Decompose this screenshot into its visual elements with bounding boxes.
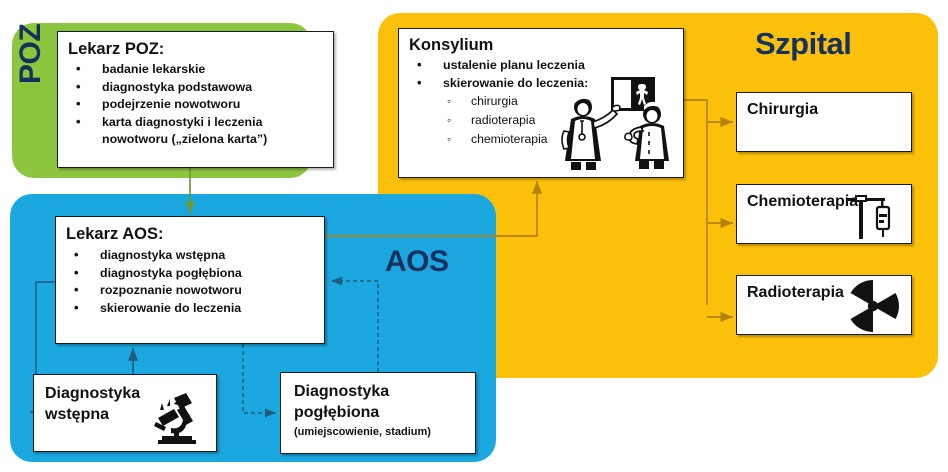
microscope-icon [144,392,210,448]
card-konsylium[interactable]: Konsylium ustalenie planu leczenia skier… [398,28,684,178]
iv-drip-icon [843,190,907,242]
card-lekarz-poz-title: Lekarz POZ: [68,39,325,59]
radiation-icon [843,280,903,332]
card-chirurgia[interactable]: Chirurgia [736,92,912,152]
list-item: karta diagnostyki i leczenia [68,114,325,132]
list-item: diagnostyka podstawowa [68,79,325,97]
card-konsylium-title: Konsylium [409,35,675,55]
card-lekarz-poz[interactable]: Lekarz POZ: badanie lekarskie diagnostyk… [57,31,334,168]
list-item: diagnostyka wstępna [66,247,316,265]
card-radioterapia[interactable]: Radioterapia [736,275,912,335]
list-item: badanie lekarskie [68,61,325,79]
list-item: diagnostyka pogłębiona [66,265,316,283]
card-lekarz-aos[interactable]: Lekarz AOS: diagnostyka wstępna diagnost… [55,216,325,344]
list-item-continuation: nowotworu („zielona karta”) [68,131,325,149]
doctors-xray-icon [557,76,675,172]
zone-label-poz: POZ [14,38,48,84]
zone-label-szpital: Szpital [755,26,851,62]
card-chirurgia-label: Chirurgia [747,99,911,120]
card-diagnostyka-wstepna[interactable]: Diagnostyka wstępna [33,374,217,452]
card-lekarz-aos-bullets: diagnostyka wstępna diagnostyka pogłębio… [66,247,316,317]
card-diagnostyka-poglebiona-note: (umiejscowienie, stadium) [294,425,475,439]
list-item: podejrzenie nowotworu [68,96,325,114]
list-item: rozpoznanie nowotworu [66,282,316,300]
card-lekarz-poz-bullets: badanie lekarskie diagnostyka podstawowa… [68,61,325,149]
card-diagnostyka-poglebiona-line2: pogłębiona [294,402,475,423]
card-diagnostyka-poglebiona[interactable]: Diagnostyka pogłębiona (umiejscowienie, … [280,372,476,454]
card-lekarz-aos-title: Lekarz AOS: [66,224,316,245]
card-diagnostyka-poglebiona-line1: Diagnostyka [294,381,475,402]
list-item: ustalenie planu leczenia [409,57,675,75]
card-chemioterapia[interactable]: Chemioterapia [736,184,912,244]
zone-label-aos: AOS [385,245,449,279]
list-item: skierowanie do leczenia [66,300,316,318]
flowchart-canvas: POZ AOS Szpital Lekarz POZ: badanie leka… [0,0,948,472]
